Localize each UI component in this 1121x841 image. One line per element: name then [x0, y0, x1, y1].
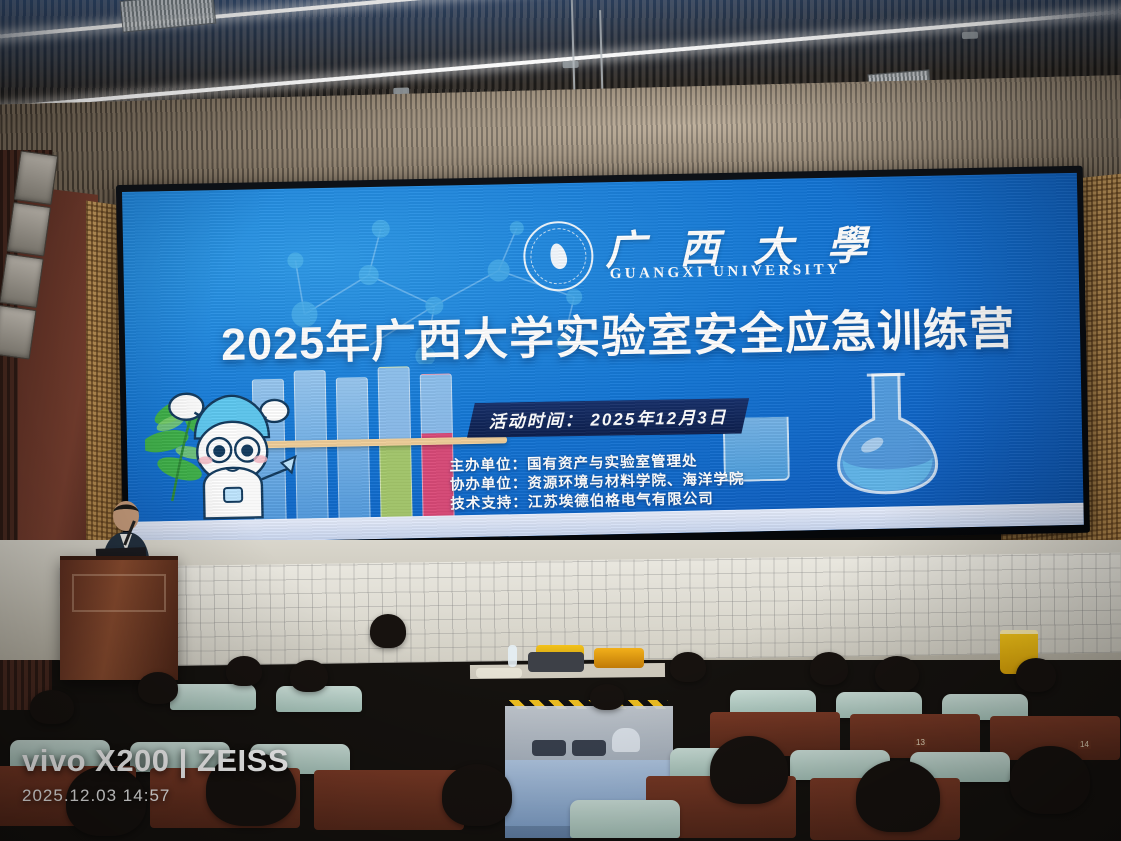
watermark-timestamp: 2025.12.03 14:57 — [22, 786, 289, 806]
safety-helmet — [612, 728, 640, 752]
safety-gear-dark — [528, 652, 584, 672]
audience-head — [875, 656, 919, 692]
audience-head — [810, 652, 848, 685]
screen-surface: 广 西 大 學 GUANGXI UNIVERSITY 2025年广西大学实验室安… — [122, 173, 1084, 544]
stage-tile-wall — [59, 553, 1121, 668]
audience-head — [1010, 746, 1090, 814]
safety-boots — [532, 740, 566, 756]
audience-head — [138, 672, 178, 704]
audience-head — [1016, 658, 1056, 692]
podium-front-panel — [72, 574, 166, 612]
ceiling-spotlight — [563, 61, 579, 68]
watermark-model: vivo X200 | ZEISS — [22, 745, 289, 776]
led-scanline-overlay — [122, 173, 1084, 544]
safety-gear-orange — [594, 648, 644, 668]
auditorium-seat — [570, 800, 680, 838]
audience-head — [590, 684, 624, 710]
clipboard — [476, 668, 522, 678]
auditorium-seat — [170, 684, 256, 710]
audience-head — [290, 660, 328, 692]
audience-head — [710, 736, 788, 804]
audience-head — [370, 614, 406, 648]
seat-number: 13 — [914, 738, 927, 747]
audience-head — [30, 690, 74, 724]
led-screen: 广 西 大 學 GUANGXI UNIVERSITY 2025年广西大学实验室安… — [122, 173, 1084, 544]
audience-head — [856, 760, 940, 832]
seat-number: 14 — [1078, 740, 1091, 749]
podium — [60, 556, 178, 680]
water-bottle — [508, 645, 517, 667]
audience-head — [226, 656, 262, 686]
safety-boots — [572, 740, 606, 756]
audience-head — [670, 652, 706, 682]
photograph: 广 西 大 學 GUANGXI UNIVERSITY 2025年广西大学实验室安… — [0, 0, 1121, 841]
audience-head — [442, 764, 512, 826]
ceiling-spotlight — [962, 32, 978, 39]
camera-watermark: vivo X200 | ZEISS 2025.12.03 14:57 — [22, 745, 289, 806]
